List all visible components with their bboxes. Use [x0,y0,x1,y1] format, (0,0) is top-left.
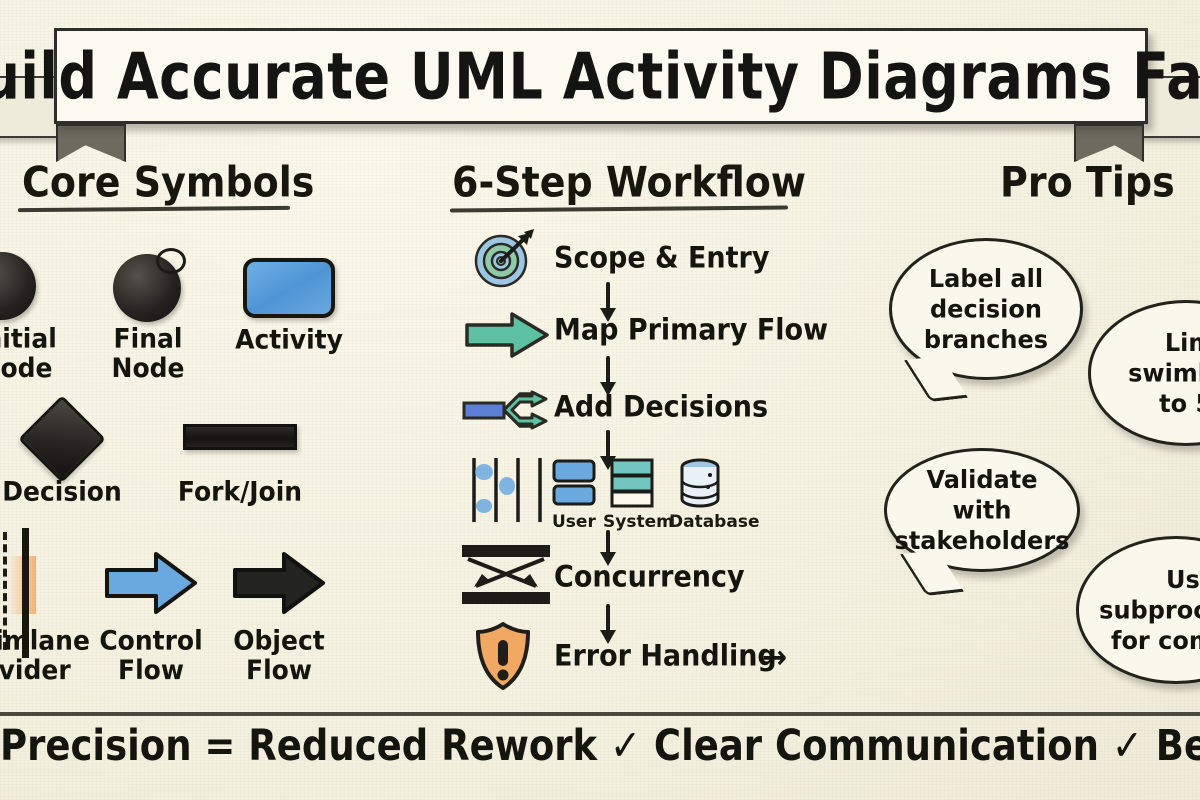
pro-tip-text-1: Label all decision branches [914,264,1058,355]
lane-tag-user: User [552,512,596,532]
pro-tip-bubble-2: Limit swimlanes to 5-7 [1088,300,1200,446]
infographic-sheet: Build Accurate UML Activity Diagrams Fas… [0,0,1200,800]
workflow-step-2-label: Map Primary Flow [554,314,828,347]
activity-box-icon [243,258,335,318]
green-arrow-icon [464,310,550,360]
final-node-ring-icon [156,248,186,274]
object-flow-label: Object Flow [213,627,345,686]
initial-node-label: Initial Node [0,325,82,384]
target-icon [468,226,538,292]
footer-divider [0,712,1200,716]
lane-tag-system: System [603,512,674,532]
page-title: Build Accurate UML Activity Diagrams Fas… [0,39,1200,113]
banner-fold-right-icon [1074,124,1144,162]
decision-label: Decision [0,477,128,506]
fork-join-bar-icon [183,424,297,450]
workflow-step-3-label: Add Decisions [554,391,768,424]
workflow-step-5-label: Concurrency [554,561,745,594]
decision-diamond-icon [18,395,106,483]
activity-label: Activity [223,325,355,354]
workflow-step-1-label: Scope & Entry [554,242,769,275]
shield-alert-icon [472,620,534,692]
system-lane-icon [609,458,655,510]
pro-tips-heading: Pro Tips [1000,158,1175,206]
core-symbols-heading: Core Symbols [22,158,314,206]
footer-text: Precision = Reduced Rework ✓ Clear Commu… [0,721,1200,771]
pro-tip-text-3: Validate with stakeholders [885,465,1080,556]
fork-join-label: Fork/Join [174,477,306,506]
banner-plate: Build Accurate UML Activity Diagrams Fas… [54,28,1148,124]
branch-arrow-icon [462,382,552,438]
fork-join-icon [458,542,554,608]
user-lane-icon [551,458,597,510]
pro-tip-text-4: Use subprocesses for complex [1089,565,1200,656]
workflow-end-arrow-icon: → [762,639,787,677]
initial-node-icon [0,252,36,320]
workflow-step-6-label: Error Handling [554,640,777,673]
database-lane-icon [678,458,722,510]
swimlane-divider-label: Swimlane Divider [0,627,86,686]
banner-fold-left-icon [56,124,126,162]
object-flow-arrow-icon [232,548,326,618]
control-flow-arrow-icon [104,548,198,618]
lane-tag-database: Database [669,512,759,532]
pro-tip-bubble-4: Use subprocesses for complex [1076,536,1200,684]
control-flow-label: Control Flow [85,627,217,686]
final-node-label: Final Node [82,325,214,384]
pro-tip-text-2: Limit swimlanes to 5-7 [1118,328,1200,419]
swimlanes-icon [466,456,546,524]
core-symbols-heading-rule [18,206,290,212]
title-banner: Build Accurate UML Activity Diagrams Fas… [0,24,1200,144]
workflow-heading-rule [450,206,788,213]
workflow-heading: 6-Step Workflow [452,158,806,206]
